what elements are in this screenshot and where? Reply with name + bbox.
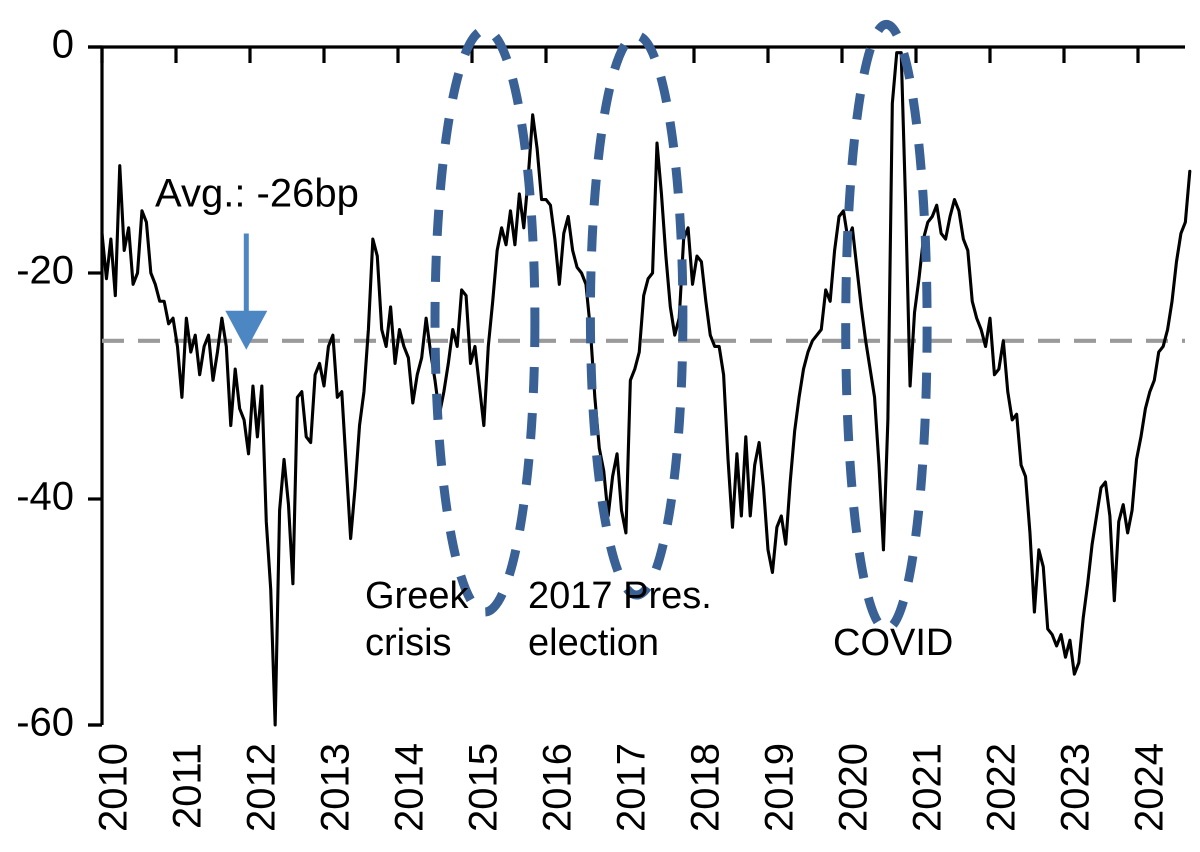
- x-tick-label: 2011: [166, 743, 210, 829]
- chart-container: 0-20-40-60 20102011201220132014201520162…: [0, 0, 1200, 852]
- x-tick-label: 2014: [388, 743, 432, 832]
- y-axis-tick-labels: 0-20-40-60: [16, 23, 74, 745]
- x-tick-label: 2013: [314, 743, 358, 832]
- annotation-ellipse-pres-election-2017: [590, 36, 683, 595]
- average-pointer-arrow: [225, 233, 267, 349]
- y-tick-label: -20: [16, 249, 74, 293]
- x-tick-label: 2021: [906, 743, 950, 832]
- x-tick-label: 2015: [462, 743, 506, 832]
- y-tick-label: -60: [16, 701, 74, 745]
- line-chart-figure: 0-20-40-60 20102011201220132014201520162…: [0, 0, 1200, 852]
- x-tick-label: 2012: [240, 743, 284, 832]
- x-axis-tick-labels: 2010201120122013201420152016201720182019…: [92, 743, 1172, 832]
- y-tick-label: 0: [52, 23, 74, 67]
- x-tick-label: 2023: [1054, 743, 1098, 832]
- annotation-ellipses: [435, 24, 927, 629]
- x-tick-label: 2024: [1128, 743, 1172, 832]
- x-tick-label: 2018: [684, 743, 728, 832]
- annotation-ellipse-greek-crisis: [435, 30, 535, 612]
- x-tick-label: 2010: [92, 743, 136, 832]
- greek-crisis-label-line1: Greek: [365, 575, 469, 617]
- x-tick-label: 2020: [832, 743, 876, 832]
- arrow-head-icon: [225, 311, 267, 350]
- y-tick-label: -40: [16, 475, 74, 519]
- y-tick-marks: [88, 47, 102, 725]
- greek-crisis-label-line2: crisis: [365, 622, 452, 664]
- x-tick-label: 2017: [610, 743, 654, 832]
- election-label-line1: 2017 Pres.: [528, 575, 712, 617]
- average-note-label: Avg.: -26bp: [155, 172, 359, 216]
- election-label-line2: election: [528, 622, 659, 664]
- x-tick-label: 2016: [536, 743, 580, 832]
- x-tick-label: 2019: [758, 743, 802, 832]
- covid-label: COVID: [833, 622, 953, 664]
- x-tick-label: 2022: [980, 743, 1024, 832]
